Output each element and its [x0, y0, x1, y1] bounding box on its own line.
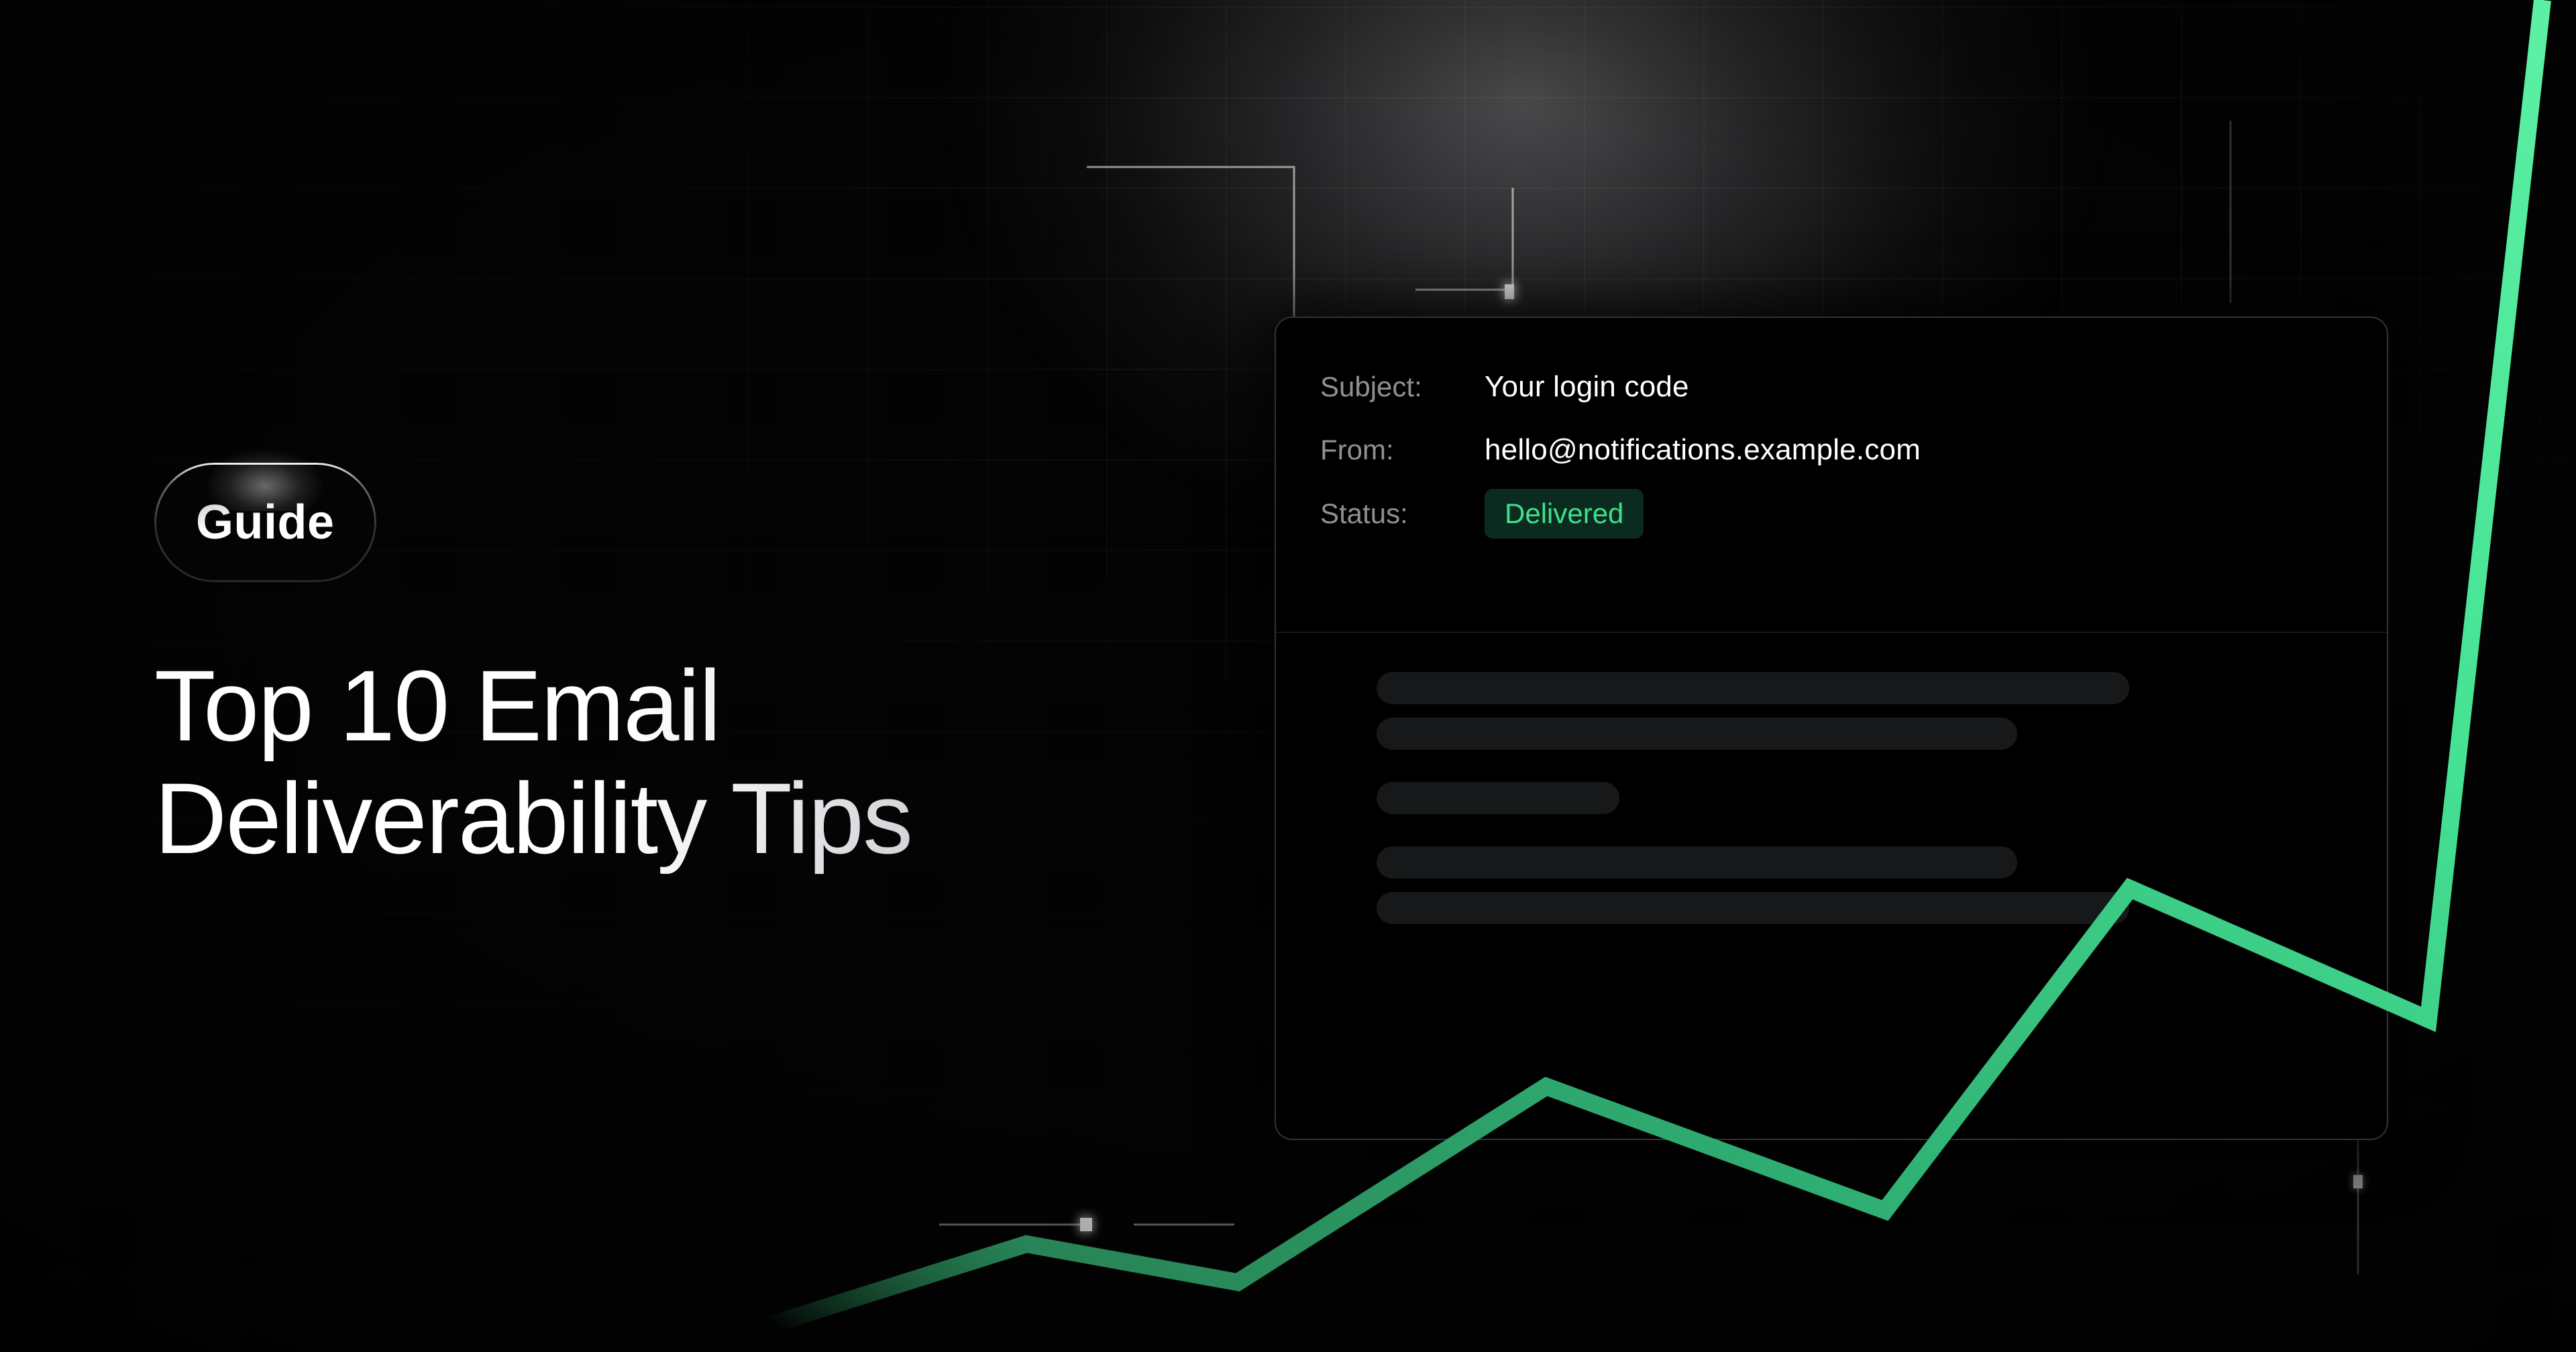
- email-card-divider: [1276, 632, 2387, 633]
- category-badge-label: Guide: [196, 495, 335, 550]
- email-status-label: Status:: [1320, 498, 1485, 530]
- email-subject-label: Subject:: [1320, 371, 1485, 403]
- trace-node-icon: [1505, 284, 1514, 299]
- placeholder-bar: [1377, 782, 1619, 814]
- email-status-row: Status: Delivered: [1320, 482, 2387, 546]
- email-card-header: Subject: Your login code From: hello@not…: [1276, 318, 2387, 546]
- placeholder-bar: [1377, 846, 2017, 879]
- hero-text-column: Guide Top 10 Email Deliverability Tips: [154, 463, 1161, 875]
- page-title-line-1: Top 10 Email: [154, 649, 1161, 762]
- placeholder-bar: [1377, 718, 2017, 750]
- email-body-placeholder: [1377, 672, 2387, 924]
- email-subject-row: Subject: Your login code: [1320, 361, 2387, 413]
- email-subject-value: Your login code: [1485, 370, 1689, 404]
- email-from-value: hello@notifications.example.com: [1485, 433, 1921, 467]
- email-from-row: From: hello@notifications.example.com: [1320, 424, 2387, 476]
- trace-node-icon: [2353, 1175, 2363, 1188]
- page-title-line-2: Deliverability Tips: [154, 762, 1161, 875]
- trace-node-icon: [1080, 1218, 1092, 1231]
- status-badge: Delivered: [1485, 489, 1644, 539]
- email-preview-card: Subject: Your login code From: hello@not…: [1275, 317, 2388, 1140]
- placeholder-bar: [1377, 672, 2129, 704]
- placeholder-bar: [1377, 892, 2129, 924]
- email-from-label: From:: [1320, 434, 1485, 466]
- category-badge[interactable]: Guide: [154, 463, 376, 582]
- page-title: Top 10 Email Deliverability Tips: [154, 649, 1161, 875]
